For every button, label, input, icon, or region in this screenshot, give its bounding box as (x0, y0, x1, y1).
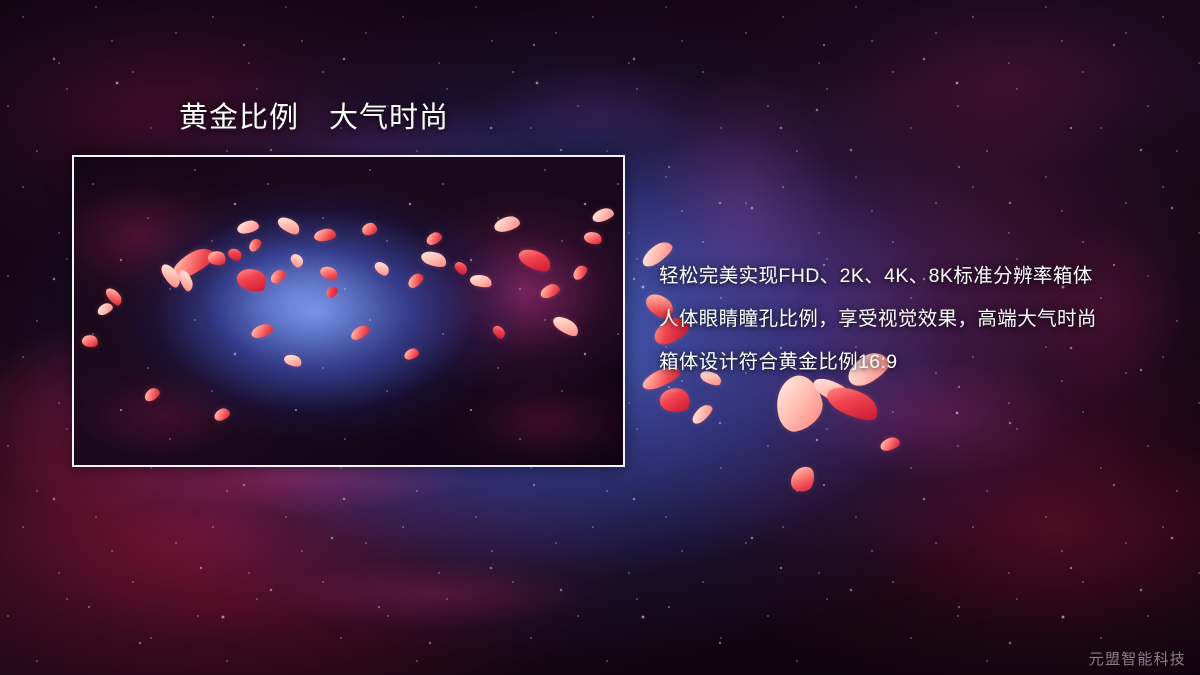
petal (788, 463, 818, 495)
body-line-2: 人体眼睛瞳孔比例，享受视觉效果，高端大气时尚 (659, 298, 1159, 341)
body-text-block: 轻松完美实现FHD、2K、4K、8K标准分辨率箱体 人体眼睛瞳孔比例，享受视觉效… (659, 255, 1159, 384)
petal (823, 379, 883, 426)
photo-starfield (74, 157, 623, 465)
body-line-1: 轻松完美实现FHD、2K、4K、8K标准分辨率箱体 (659, 255, 1159, 298)
body-line-3: 箱体设计符合黄金比例16:9 (659, 341, 1159, 384)
presentation-slide: 黄金比例 大气时尚 (0, 0, 1200, 675)
watermark: 元盟智能科技 (1089, 648, 1186, 669)
slide-title: 黄金比例 大气时尚 (179, 100, 449, 137)
petal (658, 385, 692, 415)
petal (689, 402, 715, 427)
photo-image (74, 157, 623, 465)
petal (879, 435, 902, 452)
photo-frame (72, 155, 625, 467)
